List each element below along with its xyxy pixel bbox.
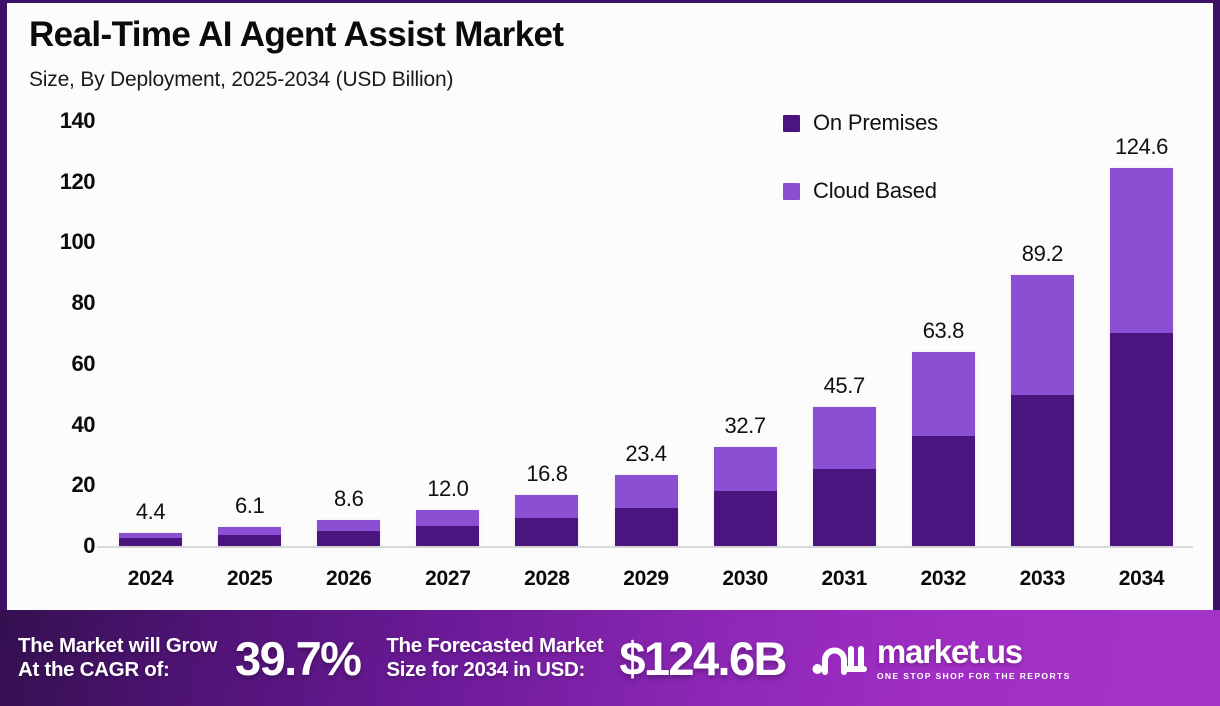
bar-segment-on-premises[interactable] (813, 469, 876, 546)
bar-value-label: 63.8 (923, 318, 964, 344)
chart-title: Real-Time AI Agent Assist Market (29, 15, 563, 55)
bar-segment-cloud-based[interactable] (218, 527, 281, 535)
bar-segment-cloud-based[interactable] (317, 520, 380, 531)
bar-segment-cloud-based[interactable] (1110, 168, 1173, 333)
bar-stack[interactable] (813, 407, 876, 546)
bar-segment-cloud-based[interactable] (416, 510, 479, 526)
bar-segment-on-premises[interactable] (1011, 395, 1074, 546)
bar-segment-cloud-based[interactable] (515, 495, 578, 518)
logo-tagline: ONE STOP SHOP FOR THE REPORTS (877, 671, 1071, 681)
x-axis-tick: 2033 (1020, 567, 1066, 591)
bar-segment-on-premises[interactable] (912, 436, 975, 547)
cagr-block: The Market will Grow At the CAGR of: 39.… (18, 631, 360, 686)
bar-value-label: 16.8 (526, 461, 567, 487)
y-axis-tick: 120 (60, 169, 95, 195)
bar-value-label: 124.6 (1115, 134, 1168, 160)
x-axis-tick: 2029 (623, 567, 669, 591)
bar-group[interactable]: 89.22033 (993, 121, 1092, 546)
x-axis-tick: 2024 (128, 567, 174, 591)
forecast-caption-line2: Size for 2034 in USD: (386, 658, 603, 682)
bar-stack[interactable] (912, 352, 975, 546)
y-axis-tick: 140 (60, 108, 95, 134)
bar-segment-cloud-based[interactable] (912, 352, 975, 435)
bar-stack[interactable] (218, 527, 281, 546)
bar-stack[interactable] (119, 533, 182, 546)
bar-group[interactable]: 6.12025 (200, 121, 299, 546)
y-axis-tick: 20 (72, 472, 95, 498)
bar-segment-cloud-based[interactable] (1011, 275, 1074, 395)
x-axis-tick: 2028 (524, 567, 570, 591)
cagr-value: 39.7% (235, 631, 360, 686)
bar-segment-on-premises[interactable] (317, 531, 380, 546)
bar-group[interactable]: 45.72031 (795, 121, 894, 546)
chart-infographic: Real-Time AI Agent Assist Market Size, B… (0, 0, 1220, 706)
bar-value-label: 8.6 (334, 486, 363, 512)
bar-stack[interactable] (714, 447, 777, 546)
bar-group[interactable]: 63.82032 (894, 121, 993, 546)
market-us-logo[interactable]: market.us ONE STOP SHOP FOR THE REPORTS (812, 635, 1071, 681)
bar-group[interactable]: 4.42024 (101, 121, 200, 546)
x-axis-tick: 2030 (722, 567, 768, 591)
bar-segment-cloud-based[interactable] (813, 407, 876, 469)
forecast-caption-line1: The Forecasted Market (386, 634, 603, 658)
bar-group[interactable]: 8.62026 (299, 121, 398, 546)
bar-value-label: 23.4 (625, 441, 666, 467)
chart-subtitle: Size, By Deployment, 2025-2034 (USD Bill… (29, 68, 563, 92)
market-us-logo-text: market.us ONE STOP SHOP FOR THE REPORTS (877, 635, 1071, 681)
x-axis-tick: 2026 (326, 567, 372, 591)
bar-segment-on-premises[interactable] (1110, 333, 1173, 546)
bar-value-label: 6.1 (235, 493, 264, 519)
bottom-banner: The Market will Grow At the CAGR of: 39.… (0, 610, 1220, 706)
bar-value-label: 32.7 (725, 413, 766, 439)
bar-segment-on-premises[interactable] (515, 518, 578, 546)
bar-segment-cloud-based[interactable] (615, 475, 678, 508)
bar-stack[interactable] (416, 510, 479, 546)
bar-group[interactable]: 16.82028 (497, 121, 596, 546)
cagr-caption-line1: The Market will Grow (18, 634, 217, 658)
header: Real-Time AI Agent Assist Market Size, B… (29, 15, 563, 92)
y-axis: 140120100806040200 (29, 121, 95, 547)
bar-value-label: 4.4 (136, 499, 165, 525)
market-us-logo-icon (812, 639, 868, 677)
x-axis-baseline (97, 546, 1193, 548)
x-axis-tick: 2025 (227, 567, 273, 591)
bar-group[interactable]: 32.72030 (696, 121, 795, 546)
y-axis-tick: 60 (72, 351, 95, 377)
bar-value-label: 12.0 (427, 476, 468, 502)
bar-value-label: 89.2 (1022, 241, 1063, 267)
bar-value-label: 45.7 (824, 373, 865, 399)
x-axis-tick: 2032 (921, 567, 967, 591)
y-axis-tick: 100 (60, 229, 95, 255)
x-axis-tick: 2034 (1119, 567, 1165, 591)
x-axis-tick: 2031 (821, 567, 867, 591)
forecast-caption: The Forecasted Market Size for 2034 in U… (386, 634, 603, 682)
y-axis-tick: 40 (72, 412, 95, 438)
bar-stack[interactable] (1110, 168, 1173, 546)
bar-stack[interactable] (1011, 275, 1074, 546)
bar-group[interactable]: 12.02027 (398, 121, 497, 546)
bar-segment-on-premises[interactable] (714, 491, 777, 546)
bar-stack[interactable] (615, 475, 678, 546)
forecast-value: $124.6B (619, 631, 786, 686)
bar-segment-on-premises[interactable] (615, 508, 678, 546)
bar-segment-on-premises[interactable] (416, 526, 479, 546)
cagr-caption-line2: At the CAGR of: (18, 658, 217, 682)
bar-segment-on-premises[interactable] (218, 535, 281, 546)
bar-segment-cloud-based[interactable] (714, 447, 777, 491)
y-axis-tick: 80 (72, 290, 95, 316)
bar-stack[interactable] (515, 495, 578, 546)
forecast-block: The Forecasted Market Size for 2034 in U… (386, 631, 786, 686)
bar-segment-on-premises[interactable] (119, 538, 182, 546)
y-axis-tick: 0 (83, 533, 95, 559)
cagr-caption: The Market will Grow At the CAGR of: (18, 634, 217, 682)
bar-stack[interactable] (317, 520, 380, 546)
bar-group[interactable]: 124.62034 (1092, 121, 1191, 546)
bar-group[interactable]: 23.42029 (596, 121, 695, 546)
logo-wordmark: market.us (877, 633, 1022, 670)
x-axis-tick: 2027 (425, 567, 471, 591)
bar-plot-area: 4.420246.120258.6202612.0202716.8202823.… (101, 121, 1191, 546)
